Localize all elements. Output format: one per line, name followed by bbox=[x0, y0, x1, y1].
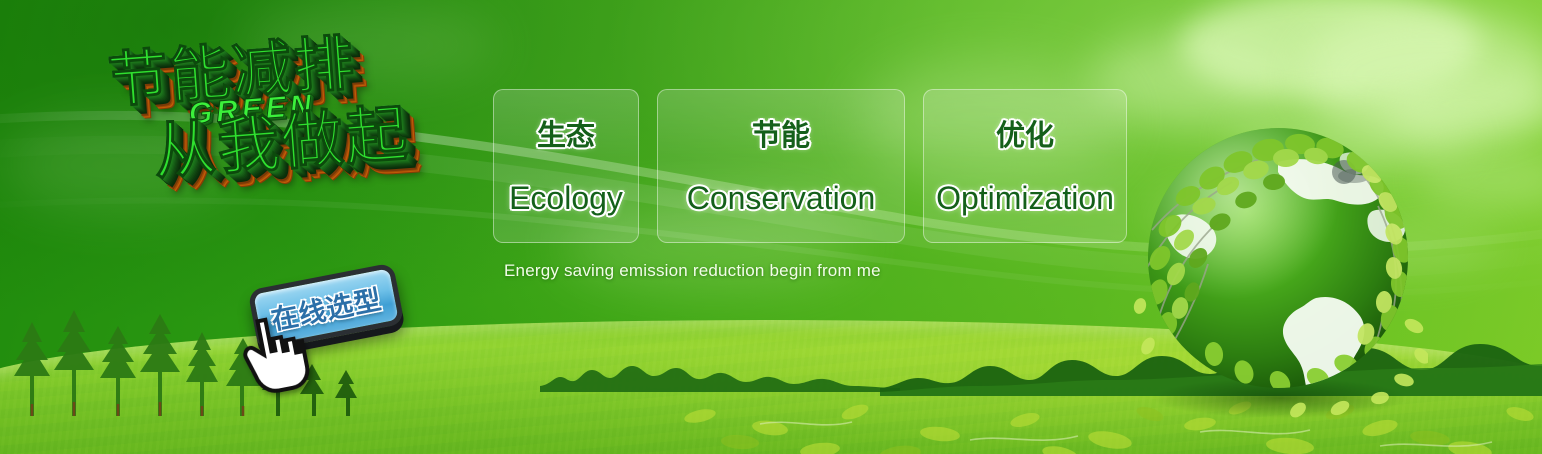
feature-title-en: Ecology bbox=[509, 180, 623, 217]
feature-boxes: 生态 Ecology 节能 Conservation 优化 Optimizati… bbox=[493, 89, 1127, 243]
eco-hero-banner: 节能减排 GREEN 从我做起 在线选型 生态 Ecology 节能 Conse… bbox=[0, 0, 1542, 454]
cloud-icon bbox=[1420, 150, 1542, 210]
feature-title-cn: 生态 bbox=[537, 112, 595, 154]
leafy-globe-icon bbox=[1128, 110, 1428, 420]
feature-title-en: Optimization bbox=[936, 180, 1114, 217]
feature-title-cn: 优化 bbox=[996, 112, 1054, 154]
banner-tagline: Energy saving emission reduction begin f… bbox=[504, 261, 881, 281]
feature-box-ecology[interactable]: 生态 Ecology bbox=[493, 89, 639, 243]
feature-box-conservation[interactable]: 节能 Conservation bbox=[657, 89, 905, 243]
feature-box-optimization[interactable]: 优化 Optimization bbox=[923, 89, 1127, 243]
cloud-icon bbox=[1180, 0, 1480, 100]
feature-title-en: Conservation bbox=[687, 180, 876, 217]
feature-title-cn: 节能 bbox=[752, 112, 810, 154]
headline-3d-text: 节能减排 GREEN 从我做起 bbox=[88, 24, 504, 283]
